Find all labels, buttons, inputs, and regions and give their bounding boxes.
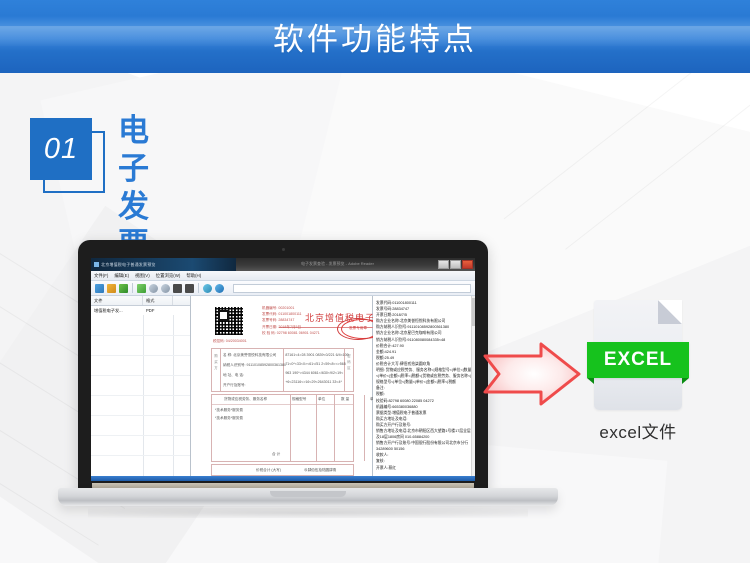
invoice-sheet: 税控码: 04/20034001 北京增值税电子普通发票 发票专用章 机器编号:…: [199, 301, 364, 472]
app-document-title: 电子发票查验 - 发票预览 - Adobe Reader: [301, 261, 374, 267]
cipher-line-2: 71<0*<33<0><61</51 2<59<8<<>565: [285, 362, 345, 366]
file-list-row[interactable]: 增值税电子发... PDF: [91, 306, 190, 315]
invoice-page: 税控码: 04/20034001 北京增值税电子普通发票 发票专用章 机器编号:…: [191, 296, 373, 476]
menu-item-edit[interactable]: 编辑(E): [114, 273, 129, 279]
zoom-in-icon[interactable]: [149, 284, 158, 293]
detail-seller-bank: 销售方开户行及账号:中国银行股份有限公司北京市分行 34289600 50156: [376, 440, 474, 452]
invoice-buyer-block: 购买方 密码区 名 称: 北京美誉恒悦科技有限公司 纳税人识别号: 911101…: [211, 348, 354, 392]
invoice-total-words-row: 价税合计 (大写) ⊗肆佰伍拾陆圆肆角 (小写) ￥427.23: [211, 464, 354, 476]
meta-check-code: 校 验 码: 02798 60081 06901 04271: [262, 330, 358, 336]
app-statusbar: [91, 476, 475, 481]
app-body: 文件 格式 增值税电子发... PDF: [91, 296, 475, 476]
invoice-meta-block: 机器编号: 00201001 发票代码: 011001800111 发票号码: …: [262, 305, 358, 336]
column-header-format[interactable]: 格式: [143, 296, 173, 305]
file-format-cell: PDF: [143, 306, 173, 315]
invoice-detail-panel[interactable]: 发票代码:011001800111 发票号码:28834747 开票日期:201…: [373, 296, 475, 476]
invoice-code-line: 税控码: 04/20034001: [213, 339, 247, 344]
total-label: 合 计: [272, 452, 280, 457]
detail-drawer: 开票人:蔡红: [376, 465, 474, 471]
page-title: 软件功能特点: [273, 14, 477, 59]
excel-file-label: excel文件: [588, 418, 688, 443]
maximize-button[interactable]: [450, 260, 461, 269]
close-button[interactable]: [462, 260, 473, 269]
minimize-button[interactable]: [438, 260, 449, 269]
rotate-icon[interactable]: [203, 284, 212, 293]
file-list-panel[interactable]: 文件 格式 增值税电子发... PDF: [91, 296, 191, 476]
zoom-out-icon[interactable]: [161, 284, 170, 293]
detail-scrollbar[interactable]: [471, 296, 475, 476]
app-window-title: 北京增值税电子普通发票预览: [101, 262, 156, 268]
buyer-bank: 开户行及账号:: [223, 383, 246, 388]
cipher-line-4: +6<23116<>16<29<2643011 33<4*: [285, 380, 342, 384]
menu-item-window[interactable]: 位置浏览(W): [156, 273, 181, 279]
detail-items: 明细: 货物或应税劳务、服务名称<|规格型号<|单位<|数量<|单价<|金额<|…: [376, 367, 474, 385]
invoice-app-window: 北京增值税电子普通发票预览 电子发票查验 - 发票预览 - Adobe Read…: [91, 258, 475, 481]
page-root: 软件功能特点 01 电子发票 导出EXCEL格式 北京增值: [0, 0, 750, 563]
save-icon[interactable]: [119, 284, 128, 293]
app-toolbar[interactable]: [91, 281, 475, 296]
item-2-name: *技术服务*服务费: [215, 416, 243, 421]
item-1-name: *技术服务*服务费: [215, 408, 243, 413]
prev-page-icon[interactable]: [173, 284, 182, 293]
open-icon[interactable]: [95, 284, 104, 293]
excel-file-icon: EXCEL excel文件: [594, 300, 694, 418]
laptop-lid: 北京增值税电子普通发票预览 电子发票查验 - 发票预览 - Adobe Read…: [78, 240, 488, 492]
folder-icon[interactable]: [107, 284, 116, 293]
file-list-header: 文件 格式: [91, 296, 190, 306]
buyer-side-label: 购买方: [213, 353, 219, 371]
qr-code-icon: [215, 307, 243, 335]
section-number-badge: 01: [30, 118, 106, 196]
app-menubar[interactable]: 文件(F) 编辑(E) 视图(V) 位置浏览(W) 帮助(H): [91, 271, 475, 281]
next-page-icon[interactable]: [185, 284, 194, 293]
column-header-name[interactable]: 文件: [91, 296, 143, 305]
sum-cn-label: 价税合计 (大写): [256, 468, 281, 473]
window-controls[interactable]: [438, 260, 473, 269]
cipher-line-1: 87161<4>28 3901 0839<0/221 6/4<100: [285, 353, 348, 357]
cipher-line-3: 963 190*>4344 6061</630<9/2<19<: [285, 371, 343, 375]
col-spec: 规格型号: [292, 397, 306, 402]
badge-filled-square: 01: [30, 118, 92, 180]
col-goods-name: 货物或应税劳务、服务名称: [224, 397, 267, 402]
right-arrow-icon: [483, 342, 583, 406]
menu-item-file[interactable]: 文件(F): [94, 273, 108, 279]
buyer-name: 名 称: 北京美誉恒悦科技有限公司: [223, 353, 276, 358]
header-banner: 软件功能特点: [0, 0, 750, 73]
info-icon[interactable]: [215, 284, 224, 293]
menu-item-view[interactable]: 视图(V): [135, 273, 150, 279]
buyer-tax-id: 纳税人识别号: 91110108592800361380: [223, 363, 286, 368]
menu-item-help[interactable]: 帮助(H): [186, 273, 201, 279]
detail-scrollbar-thumb[interactable]: [472, 298, 475, 326]
excel-badge-text: EXCEL: [604, 349, 672, 371]
buyer-address: 地 址、电 话:: [223, 373, 244, 378]
app-icon: [94, 262, 99, 267]
laptop-shadow: [88, 508, 528, 518]
file-list-grid: [91, 315, 190, 476]
sum-cn-value: ⊗肆佰伍拾陆圆肆角: [304, 468, 336, 473]
col-unit: 单位: [318, 397, 325, 402]
section-number: 01: [44, 133, 78, 166]
document-viewer[interactable]: 税控码: 04/20034001 北京增值税电子普通发票 发票专用章 机器编号:…: [191, 296, 475, 476]
file-name-cell: 增值税电子发...: [91, 306, 143, 315]
laptop-base-notch: [270, 491, 346, 497]
print-icon[interactable]: [137, 284, 146, 293]
invoice-items-table: 货物或应税劳务、服务名称 规格型号 单位 数 量 单 价 金 额 税率 税 额: [211, 394, 354, 462]
detail-seller-address: 销售方地址及电话:北京市朝阳区西大望路1号楼17层全层及18层1806房间 01…: [376, 428, 474, 440]
laptop-screen: 北京增值税电子普通发票预览 电子发票查验 - 发票预览 - Adobe Read…: [91, 258, 475, 481]
webcam-icon: [282, 248, 285, 251]
col-qty: 数 量: [341, 397, 349, 402]
app-titlebar: 北京增值税电子普通发票预览 电子发票查验 - 发票预览 - Adobe Read…: [91, 258, 475, 271]
address-bar[interactable]: [233, 284, 471, 293]
excel-badge: EXCEL: [587, 342, 689, 378]
